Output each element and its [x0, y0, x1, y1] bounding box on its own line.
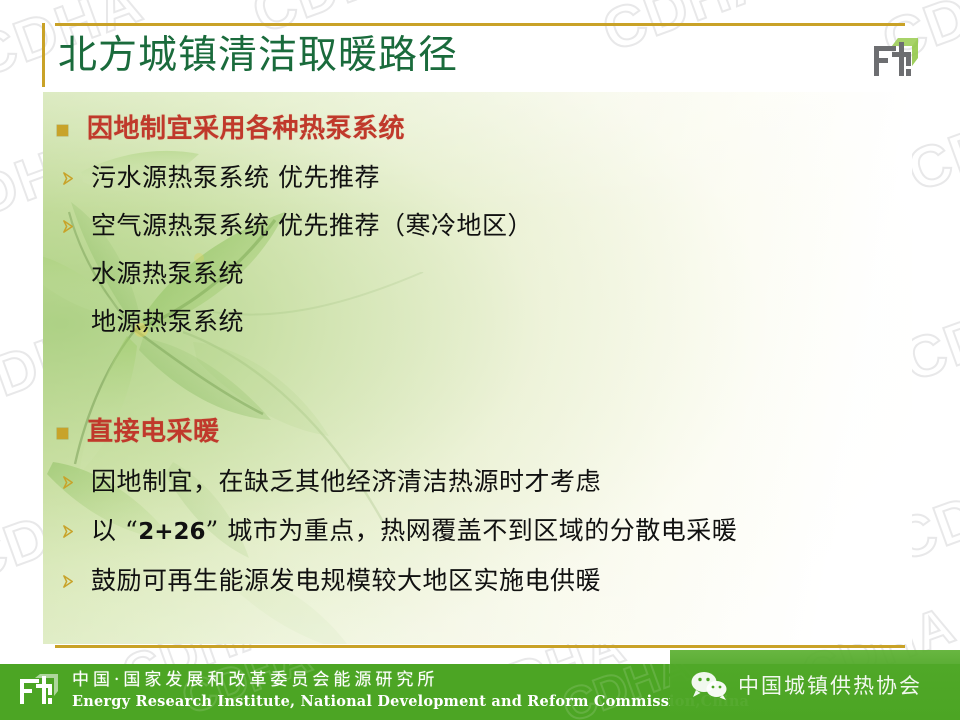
list-item-label-pre: 以 “: [91, 516, 138, 545]
arrow-bullet-icon-hidden: [61, 256, 75, 292]
footer-text-group: 中国·国家发展和改革委员会能源研究所 Energy Research Insti…: [72, 669, 749, 712]
arrow-bullet-icon: [61, 563, 75, 599]
footer-en-label: Energy Research Institute, National Deve…: [72, 692, 749, 712]
list-item: 以 “2+26” 城市为重点，热网覆盖不到区域的分散电采暖: [61, 513, 912, 550]
square-bullet-icon: [57, 428, 68, 439]
wechat-icon: [690, 670, 728, 700]
list-item: 鼓励可再生能源发电规模较大地区实施电供暖: [61, 563, 912, 599]
section-direct-electric: 直接电采暖: [43, 415, 912, 449]
arrow-bullet-icon: [61, 464, 75, 500]
list-item-label: 水源热泵系统: [91, 256, 244, 292]
list-item: 空气源热泵系统 优先推荐（寒冷地区）: [61, 208, 912, 244]
section-heading: 因地制宜采用各种热泵系统: [57, 112, 912, 146]
title-gold-rule: [55, 23, 905, 26]
footer-cn-label: 中国·国家发展和改革委员会能源研究所: [72, 669, 749, 692]
arrow-bullet-icon: [61, 208, 75, 244]
list-item-label: 因地制宜，在缺乏其他经济清洁热源时才考虑: [91, 464, 601, 500]
wechat-overlay: 中国城镇供热协会: [670, 650, 960, 720]
title-left-gold-rule: [42, 23, 45, 87]
section-direct-electric-items: 因地制宜，在缺乏其他经济清洁热源时才考虑 以 “2+26” 城市为重点，热网覆盖…: [43, 464, 912, 599]
section-heat-pump: 因地制宜采用各种热泵系统: [43, 112, 912, 146]
list-item-label: 空气源热泵系统 优先推荐（寒冷地区）: [91, 208, 533, 244]
section-heading-label: 因地制宜采用各种热泵系统: [87, 112, 405, 146]
content-panel: 因地制宜采用各种热泵系统 污水源热泵系统 优先推荐: [43, 92, 912, 644]
page-title: 北方城镇清洁取暖路径: [58, 28, 458, 84]
arrow-bullet-icon: [61, 160, 75, 196]
list-item-highlight: 2+26: [138, 519, 205, 545]
list-item-label-post: ” 城市为重点，热网覆盖不到区域的分散电采暖: [206, 516, 738, 545]
square-bullet-icon: [57, 125, 68, 136]
list-item-composite: 以 “2+26” 城市为重点，热网覆盖不到区域的分散电采暖: [91, 513, 737, 550]
section-heading-label: 直接电采暖: [87, 415, 220, 449]
list-item: 地源热泵系统: [61, 304, 912, 340]
section-heading: 直接电采暖: [57, 415, 912, 449]
list-item-label: 地源热泵系统: [91, 304, 244, 340]
list-item-label: 鼓励可再生能源发电规模较大地区实施电供暖: [91, 563, 601, 599]
arrow-bullet-icon-hidden: [61, 304, 75, 340]
list-item: 污水源热泵系统 优先推荐: [61, 160, 912, 196]
wechat-label: 中国城镇供热协会: [738, 670, 922, 700]
list-item-label: 污水源热泵系统 优先推荐: [91, 160, 380, 196]
list-item: 水源热泵系统: [61, 256, 912, 292]
list-item: 因地制宜，在缺乏其他经济清洁热源时才考虑: [61, 464, 912, 500]
slide-content: 因地制宜采用各种热泵系统 污水源热泵系统 优先推荐: [43, 92, 912, 644]
section-heat-pump-items: 污水源热泵系统 优先推荐 空气源热泵系统 优先推荐（寒冷地区）: [43, 160, 912, 340]
eri-logo-white-icon: [16, 672, 60, 712]
panel-bottom-gold-rule: [55, 645, 905, 648]
arrow-bullet-icon: [61, 513, 75, 549]
eri-logo-icon: [868, 36, 920, 86]
slide-root: 北方城镇清洁取暖路径: [0, 0, 960, 720]
